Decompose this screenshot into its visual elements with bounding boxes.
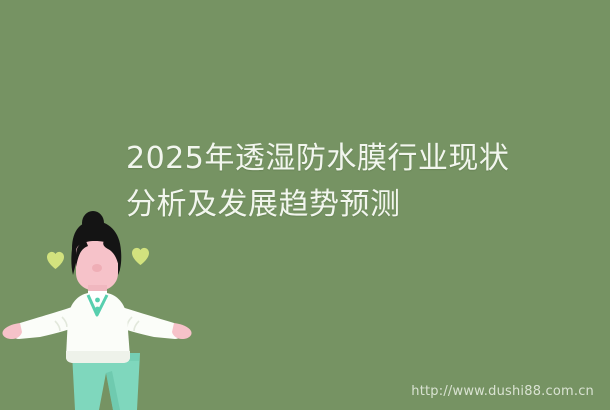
sweater-shape <box>66 291 130 363</box>
poster-canvas: 2025年透湿防水膜行业现状分析及发展趋势预测 http://www.dushi… <box>0 0 610 410</box>
heart-right-icon <box>132 248 149 265</box>
heart-left-icon <box>47 252 64 269</box>
watermark-url: http://www.dushi88.com.cn <box>411 384 594 400</box>
page-title: 2025年透湿防水膜行业现状分析及发展趋势预测 <box>126 136 516 228</box>
face-shape <box>76 241 120 291</box>
person-illustration <box>0 205 215 410</box>
